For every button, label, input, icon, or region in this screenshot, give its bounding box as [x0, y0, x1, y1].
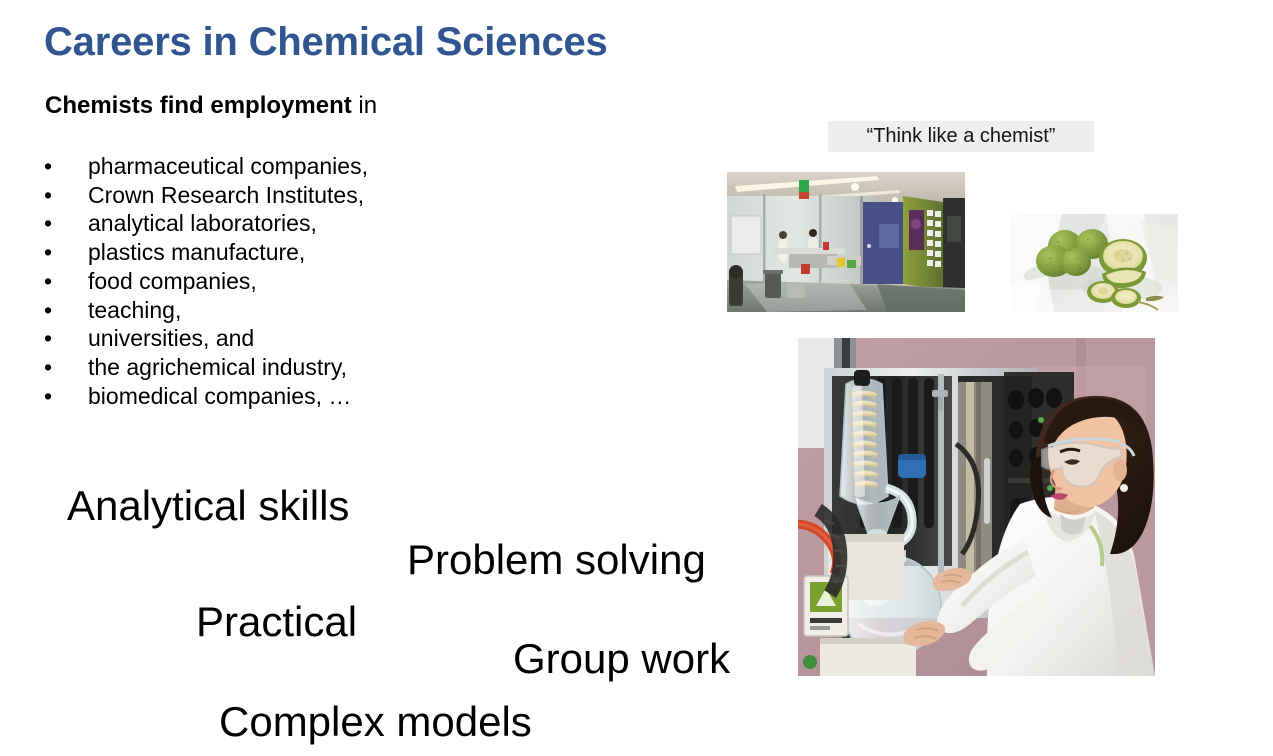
employment-bullet-list: • pharmaceutical companies, • Crown Rese…: [40, 152, 560, 410]
bullet-icon: •: [44, 267, 52, 296]
page-title: Careers in Chemical Sciences: [44, 20, 608, 65]
list-item-label: biomedical companies, …: [88, 383, 351, 409]
bullet-icon: •: [44, 152, 52, 181]
list-item-label: pharmaceutical companies,: [88, 153, 368, 179]
list-item: • biomedical companies, …: [40, 382, 560, 411]
quote-text: “Think like a chemist”: [867, 125, 1056, 148]
bullet-icon: •: [44, 296, 52, 325]
list-item: • analytical laboratories,: [40, 209, 560, 238]
list-item: • plastics manufacture,: [40, 238, 560, 267]
bullet-icon: •: [44, 353, 52, 382]
photo-feijoas: [1010, 214, 1178, 312]
skill-word-complex-models: Complex models: [219, 701, 532, 743]
skill-word-analytical-skills: Analytical skills: [67, 485, 349, 527]
list-item: • food companies,: [40, 267, 560, 296]
bullet-icon: •: [44, 238, 52, 267]
list-item: • the agrichemical industry,: [40, 353, 560, 382]
skill-word-practical: Practical: [196, 601, 357, 643]
list-item: • pharmaceutical companies,: [40, 152, 560, 181]
bullet-icon: •: [44, 324, 52, 353]
list-item-label: analytical laboratories,: [88, 210, 317, 236]
photo-lab-corridor: [727, 172, 965, 312]
list-item-label: universities, and: [88, 325, 254, 351]
chemist-rotary-evaporator-illustration: [798, 338, 1155, 676]
subtitle: Chemists find employment in: [45, 92, 377, 120]
subtitle-bold: Chemists find employment: [45, 92, 352, 119]
skill-word-problem-solving: Problem solving: [407, 539, 706, 581]
list-item-label: Crown Research Institutes,: [88, 182, 364, 208]
bullet-icon: •: [44, 382, 52, 411]
bullet-icon: •: [44, 209, 52, 238]
list-item: • teaching,: [40, 296, 560, 325]
skill-word-group-work: Group work: [513, 638, 730, 680]
feijoa-fruit-illustration: [1010, 214, 1178, 312]
list-item: • Crown Research Institutes,: [40, 181, 560, 210]
list-item-label: the agrichemical industry,: [88, 354, 347, 380]
bullet-icon: •: [44, 181, 52, 210]
lab-corridor-illustration: [727, 172, 965, 312]
slide-canvas: Careers in Chemical Sciences Chemists fi…: [0, 0, 1273, 756]
list-item-label: teaching,: [88, 297, 181, 323]
subtitle-regular: in: [352, 92, 377, 119]
list-item-label: plastics manufacture,: [88, 239, 305, 265]
list-item-label: food companies,: [88, 268, 257, 294]
photo-chemist: [798, 338, 1155, 676]
quote-callout: “Think like a chemist”: [828, 121, 1094, 152]
list-item: • universities, and: [40, 324, 560, 353]
